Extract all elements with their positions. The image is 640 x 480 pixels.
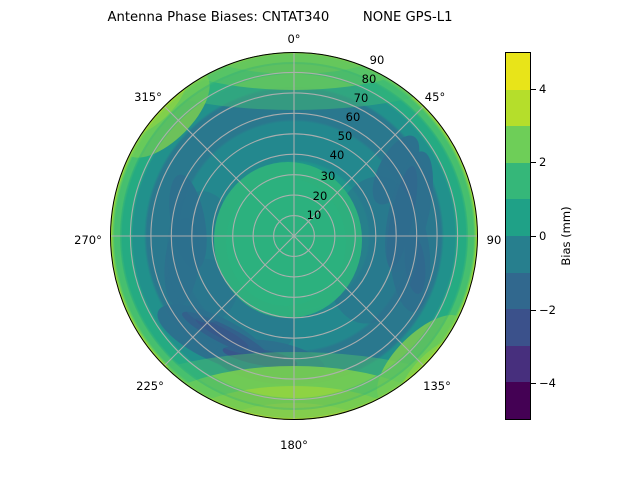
colorbar-segment: [506, 53, 530, 90]
colorbar-segment: [506, 199, 530, 236]
colorbar-ticklabel-4: 4: [539, 82, 546, 96]
colorbar-segment: [506, 236, 530, 273]
theta-label-45: 45°: [425, 90, 445, 104]
colorbar-ticklabel-2: 2: [539, 155, 546, 169]
contour-bands: [110, 52, 478, 420]
r-label-60: 60: [346, 110, 361, 124]
colorbar-tick-4: [531, 89, 536, 90]
contour-fill-svg: [110, 52, 478, 420]
theta-label-0: 0°: [287, 32, 300, 46]
colorbar-segment: [506, 309, 530, 346]
r-label-40: 40: [330, 148, 345, 162]
r-label-30: 30: [321, 169, 336, 183]
r-label-80: 80: [362, 72, 377, 86]
central-core: [214, 162, 362, 318]
r-label-70: 70: [354, 91, 369, 105]
theta-label-90: 90: [487, 233, 502, 247]
colorbar-tick-2: [531, 162, 536, 163]
colorbar-tick-neg4: [531, 383, 536, 384]
theta-label-225: 225°: [136, 379, 164, 393]
r-label-20: 20: [313, 189, 328, 203]
r-label-50: 50: [338, 129, 353, 143]
colorbar-segment: [506, 126, 530, 163]
r-label-10: 10: [307, 208, 322, 222]
colorbar-ticklabel-neg2: −2: [539, 303, 556, 317]
colorbar-segment: [506, 346, 530, 383]
r-label-90: 90: [370, 53, 385, 67]
colorbar-segment: [506, 90, 530, 127]
polar-axes[interactable]: [110, 52, 478, 420]
colorbar-ticklabel-neg4: −4: [539, 376, 556, 390]
colorbar-tick-0: [531, 236, 536, 237]
colorbar-segment: [506, 382, 530, 419]
colorbar-ticklabel-0: 0: [539, 229, 546, 243]
polar-contour-surface: [110, 52, 478, 420]
colorbar-segment: [506, 163, 530, 200]
colorbar-segment: [506, 273, 530, 310]
theta-label-135: 135°: [423, 379, 451, 393]
theta-label-315: 315°: [134, 90, 162, 104]
figure-title: Antenna Phase Biases: CNTAT340 NONE GPS-…: [0, 10, 560, 25]
colorbar-tick-neg2: [531, 310, 536, 311]
colorbar-axis-label: Bias (mm): [559, 206, 573, 265]
theta-label-180: 180°: [280, 438, 308, 452]
colorbar[interactable]: 4 2 0 −2 −4: [505, 52, 531, 420]
colorbar-gradient: [505, 52, 531, 420]
theta-label-270: 270°: [74, 233, 102, 247]
